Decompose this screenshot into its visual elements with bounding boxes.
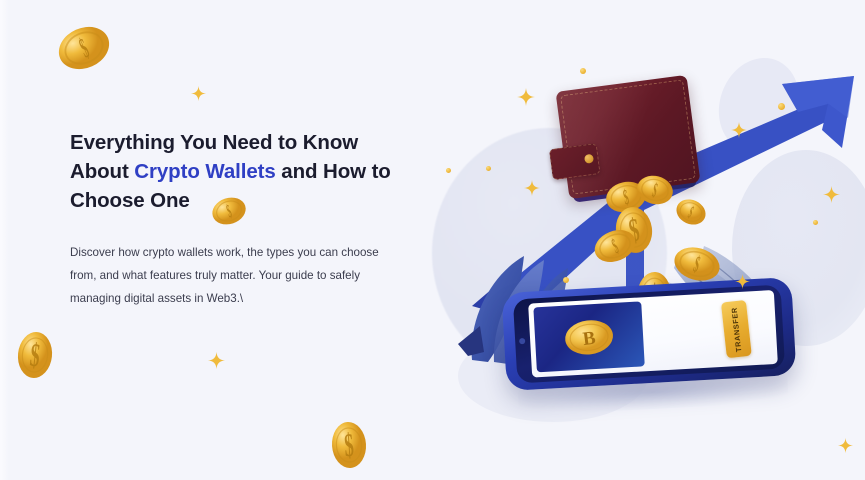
headline-line-3: Choose One: [70, 189, 190, 212]
headline-line-1: Everything You Need to Know: [70, 131, 358, 154]
star-bottom-right: [838, 438, 853, 458]
star-art-e: [735, 274, 750, 294]
star-art-d: [823, 186, 840, 208]
star-upper-left: [191, 86, 206, 106]
star-art-c: [731, 122, 747, 143]
star-art-a: [517, 88, 535, 111]
star-mid-left: [208, 352, 225, 374]
star-art-b: [524, 180, 540, 201]
headline-line-2-before: About: [70, 160, 134, 183]
hero-banner: Everything You Need to Know About Crypto…: [0, 0, 865, 480]
headline-accent-crypto-wallets: Crypto Wallets: [134, 160, 275, 183]
page-title: Everything You Need to Know About Crypto…: [70, 128, 410, 215]
hero-subtitle: Discover how crypto wallets work, the ty…: [70, 241, 392, 310]
hero-copy-block: Everything You Need to Know About Crypto…: [70, 128, 410, 310]
headline-line-2-after: and How to: [276, 160, 391, 183]
